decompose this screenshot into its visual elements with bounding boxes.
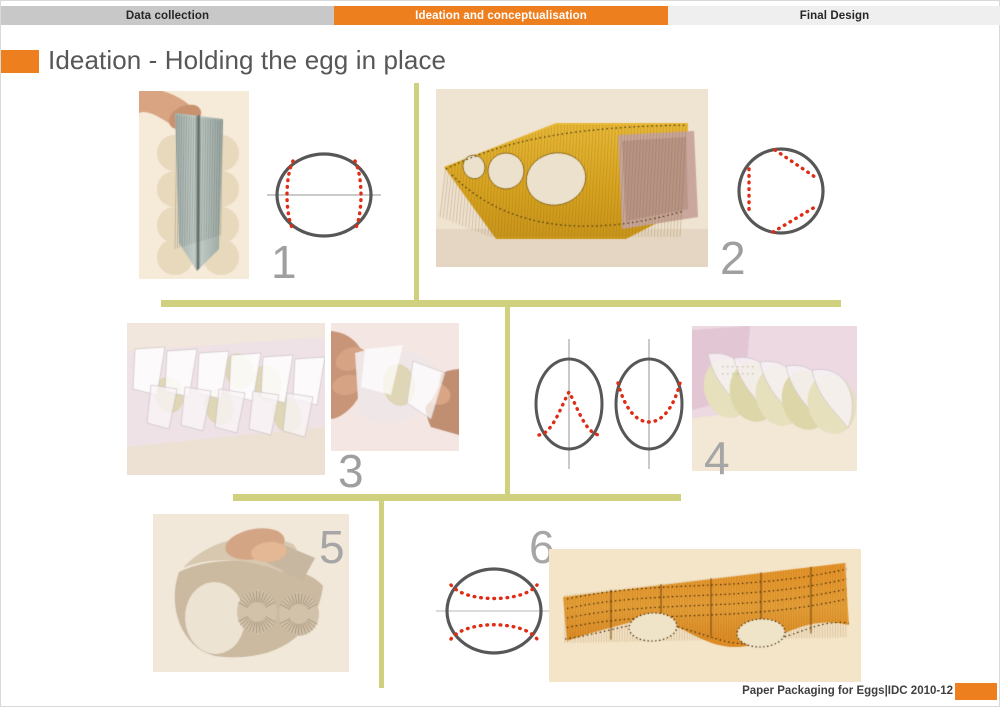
photo-6-canvas [549,549,861,682]
connector-horizontal-row2 [233,494,681,501]
connector-vertical-bottom [379,498,384,688]
connector-horizontal-row1 [161,300,841,307]
photo-2-canvas [436,89,708,267]
diagram-panel-6 [434,559,554,664]
panel-number-4: 4 [704,435,730,481]
diagram-panel-1 [259,143,389,247]
panel-number-5: 5 [319,524,345,570]
tab-final-design-label: Final Design [800,10,870,22]
photo-1-canvas [139,91,249,279]
photo-panel-2 [436,89,708,267]
diagram-2-svg [729,139,833,243]
photo-panel-3b [331,323,459,451]
diagram-4-svg [525,334,693,474]
photo-3a-canvas [127,323,325,475]
tab-ideation-label: Ideation and conceptualisation [415,10,587,22]
slide-canvas: Data collection Ideation and conceptuali… [0,0,1000,707]
tab-final-design[interactable]: Final Design [668,6,1000,25]
tab-data-collection[interactable]: Data collection [1,6,334,25]
diagram-panel-4 [525,334,693,474]
panel-number-1: 1 [271,239,297,285]
title-accent-block [1,50,39,73]
panel-number-2: 2 [720,235,746,281]
page-title: Ideation - Holding the egg in place [48,45,446,76]
connector-vertical-top [414,83,419,305]
footer-accent-block [955,683,997,700]
diagram-1-svg [259,143,389,247]
photo-panel-3a [127,323,325,475]
photo-3b-canvas [331,323,459,451]
connector-vertical-middle [505,304,510,497]
progress-tabs: Data collection Ideation and conceptuali… [1,6,1000,25]
photo-panel-1 [139,91,249,279]
footer-caption: Paper Packaging for Eggs|IDC 2010-12 [742,685,953,697]
tab-ideation-and-conceptualisation[interactable]: Ideation and conceptualisation [334,6,668,25]
diagram-6-svg [434,559,554,664]
tab-data-collection-label: Data collection [126,10,209,22]
panel-number-3: 3 [338,448,364,494]
diagram-panel-2 [729,139,833,243]
photo-panel-6 [549,549,861,682]
